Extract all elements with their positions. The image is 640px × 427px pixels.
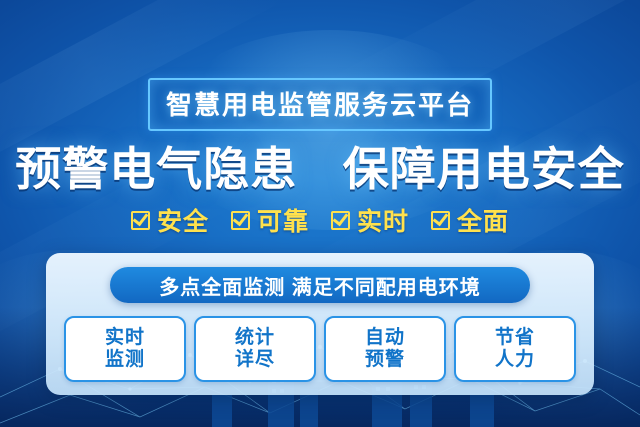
- panel-chip-line1: 自动: [365, 327, 405, 349]
- panel-chip-line1: 节省: [495, 327, 535, 349]
- feature-tag: 实时: [331, 202, 409, 238]
- panel-chip[interactable]: 节省 人力: [454, 316, 576, 382]
- checkmark-icon: [131, 211, 150, 230]
- page-headline: 预警电气隐患 保障用电安全: [0, 133, 640, 199]
- checkmark-icon: [231, 211, 250, 230]
- panel-chip[interactable]: 统计 详尽: [194, 316, 316, 382]
- feature-tag: 可靠: [231, 202, 309, 238]
- checkmark-icon: [431, 211, 450, 230]
- panel-chip[interactable]: 自动 预警: [324, 316, 446, 382]
- panel-chip-line1: 统计: [235, 327, 275, 349]
- feature-tag-label: 安全: [157, 202, 209, 238]
- feature-tag-label: 可靠: [257, 202, 309, 238]
- headline-left-text: 预警电气隐患: [15, 143, 297, 195]
- panel-chip-line1: 实时: [105, 327, 145, 349]
- panel-chip-line2: 详尽: [235, 349, 275, 371]
- checkmark-icon: [331, 211, 350, 230]
- panel-banner: 多点全面监测 满足不同配用电环境: [110, 267, 530, 303]
- panel-chip-list: 实时 监测 统计 详尽 自动 预警 节省 人力: [64, 316, 576, 382]
- headline-right-text: 保障用电安全: [343, 143, 625, 195]
- feature-tag-list: 安全 可靠 实时 全面: [0, 202, 640, 238]
- panel-chip-line2: 监测: [105, 349, 145, 371]
- platform-title-frame: 智慧用电监管服务云平台: [148, 78, 492, 131]
- feature-tag-label: 实时: [357, 202, 409, 238]
- platform-title-text: 智慧用电监管服务云平台: [166, 90, 474, 120]
- features-panel: 多点全面监测 满足不同配用电环境 实时 监测 统计 详尽 自动 预警 节省 人力: [46, 253, 594, 395]
- feature-tag: 安全: [131, 202, 209, 238]
- feature-tag: 全面: [431, 202, 509, 238]
- feature-tag-label: 全面: [457, 202, 509, 238]
- poster-canvas: 智慧用电监管服务云平台 预警电气隐患 保障用电安全 安全 可靠 实时 全面 多点…: [0, 0, 640, 427]
- panel-banner-text: 多点全面监测 满足不同配用电环境: [159, 271, 481, 300]
- panel-chip-line2: 人力: [495, 349, 535, 371]
- panel-chip-line2: 预警: [365, 349, 405, 371]
- panel-chip[interactable]: 实时 监测: [64, 316, 186, 382]
